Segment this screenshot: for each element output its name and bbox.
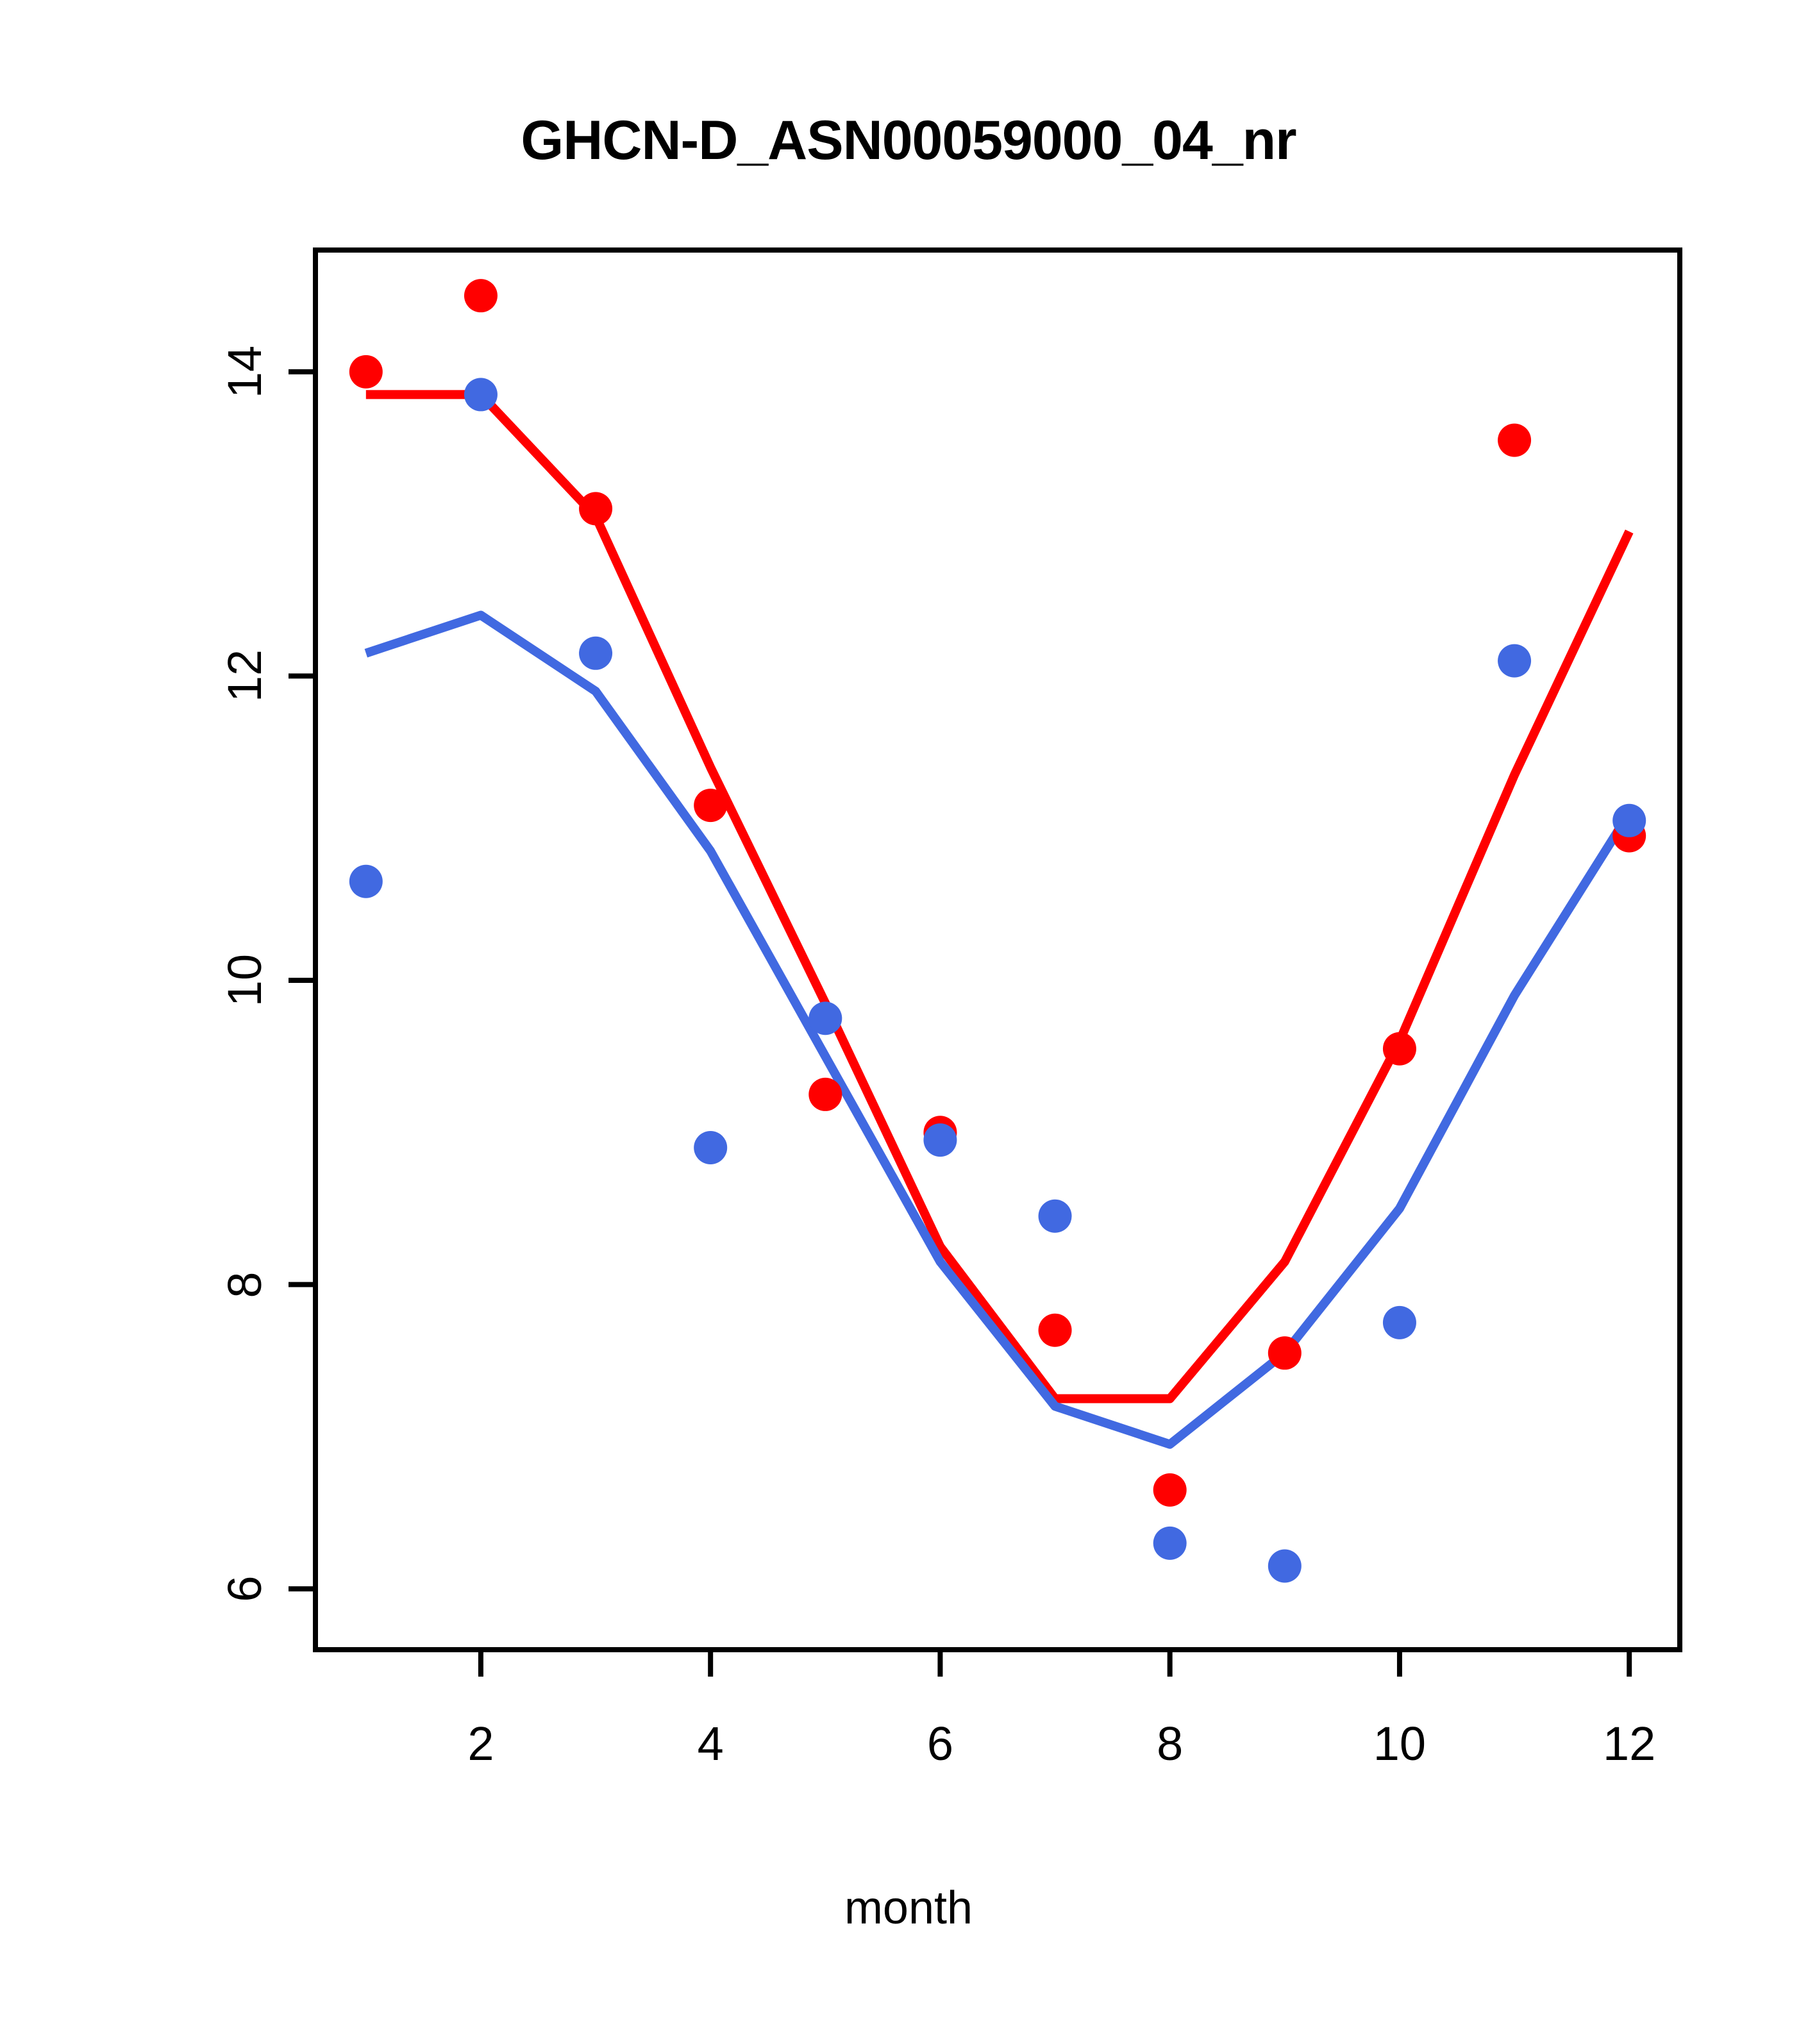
plot-box (315, 250, 1680, 1650)
data-point-blue-points (349, 865, 383, 898)
data-point-red-points (579, 492, 612, 525)
x-axis-label: month (0, 1885, 1817, 1931)
data-point-blue-points (1039, 1200, 1072, 1233)
x-tick-label: 4 (698, 1720, 724, 1768)
plot-area: 24681012 68101214 (0, 0, 1817, 2044)
x-tick-label: 12 (1603, 1720, 1655, 1768)
data-point-red-points (464, 279, 498, 312)
data-point-red-points (1268, 1336, 1302, 1370)
data-point-blue-points (808, 1001, 842, 1035)
data-point-red-points (808, 1078, 842, 1111)
data-point-red-points (1383, 1032, 1416, 1066)
data-point-blue-points (464, 378, 498, 411)
data-series (349, 279, 1646, 1582)
data-point-blue-points (1612, 804, 1646, 837)
y-tick-label: 12 (221, 649, 269, 702)
data-point-red-points (1498, 424, 1531, 457)
chart-page: GHCN-D_ASN00059000_04_nr 24681012 681012… (0, 0, 1817, 2044)
x-tick-label: 6 (927, 1720, 953, 1768)
y-tick-label: 14 (221, 346, 269, 398)
data-point-blue-points (1498, 644, 1531, 678)
data-point-red-points (349, 355, 383, 389)
x-tick-label: 2 (467, 1720, 494, 1768)
data-point-blue-points (1268, 1549, 1302, 1582)
data-point-blue-points (694, 1131, 727, 1164)
data-point-red-points (694, 789, 727, 822)
data-point-blue-points (579, 637, 612, 670)
y-tick-label: 6 (221, 1576, 269, 1602)
plot-canvas (0, 0, 1817, 2044)
data-point-red-points (1039, 1314, 1072, 1347)
y-tick-label: 10 (221, 954, 269, 1007)
y-tick-label: 8 (221, 1271, 269, 1298)
series-line-red-line (366, 394, 1629, 1398)
data-point-red-points (1153, 1473, 1187, 1507)
data-point-blue-points (923, 1123, 957, 1157)
data-point-blue-points (1383, 1306, 1416, 1339)
axis-ticks (289, 372, 1629, 1677)
data-point-blue-points (1153, 1527, 1187, 1560)
x-tick-label: 8 (1157, 1720, 1183, 1768)
plot-frame (315, 250, 1680, 1650)
x-tick-label: 10 (1373, 1720, 1426, 1768)
